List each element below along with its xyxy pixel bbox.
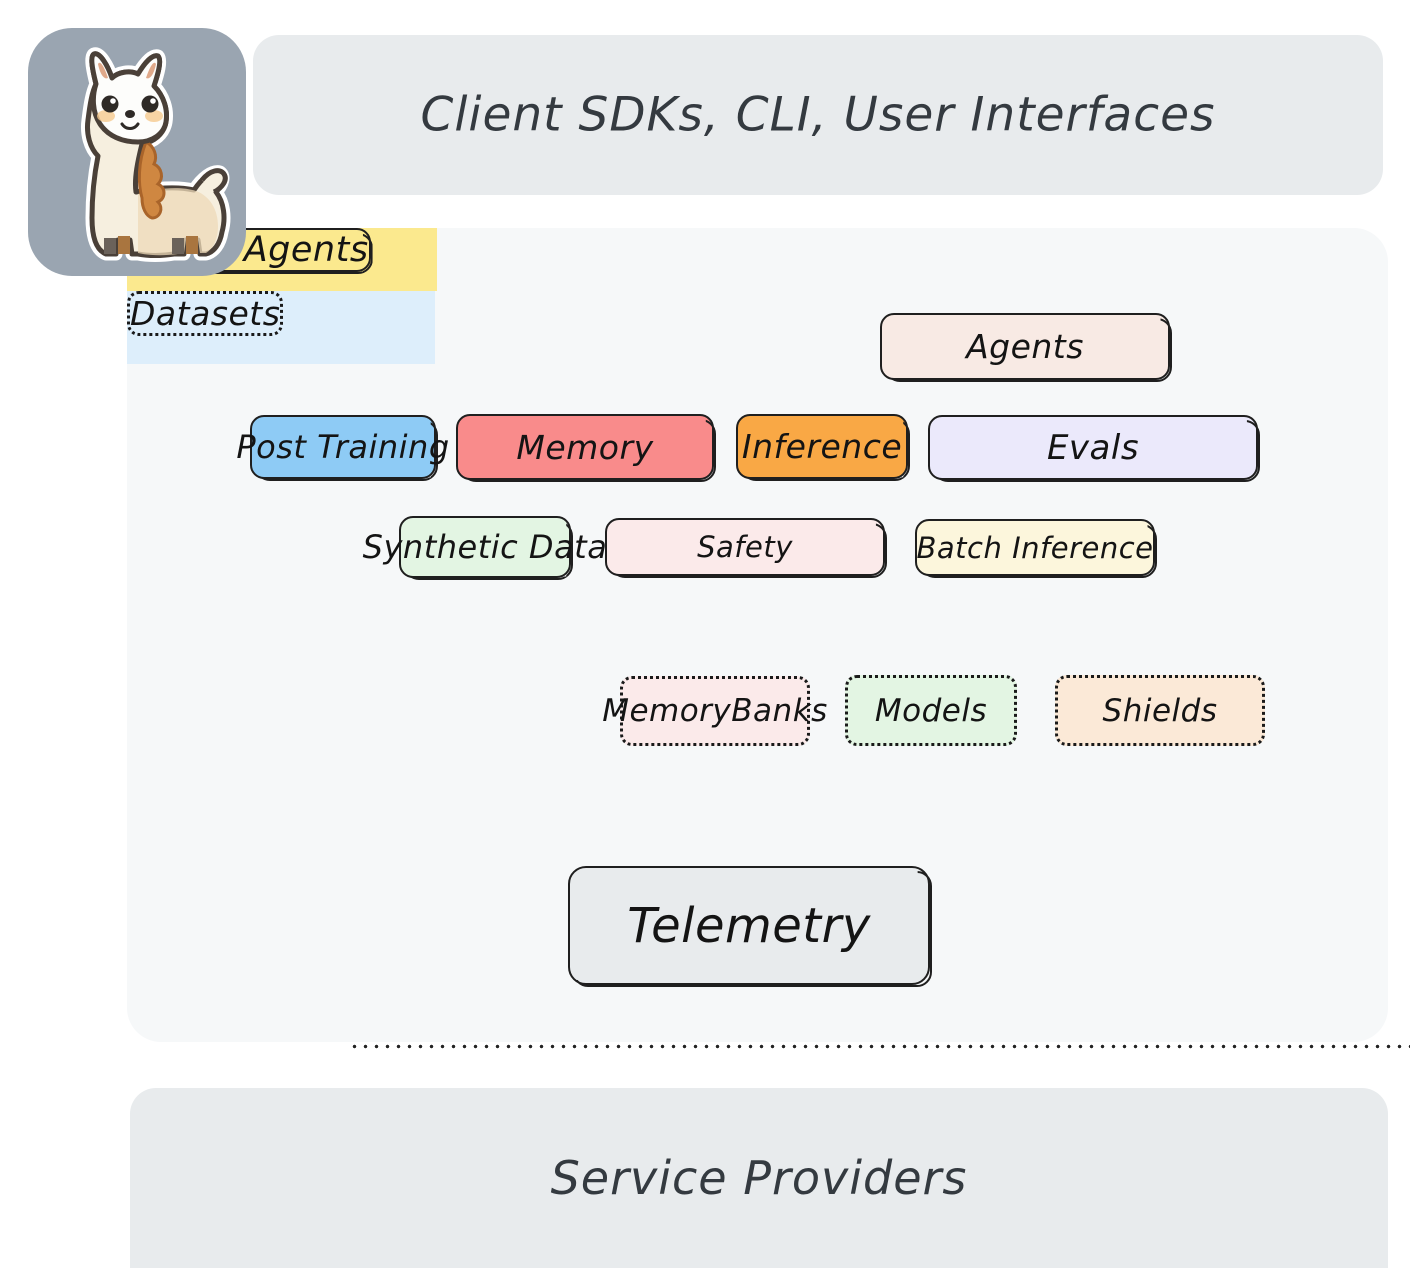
service-providers-title: Service Providers bbox=[130, 1151, 1388, 1205]
diagram-canvas: Client SDKs, CLI, User Interfaces bbox=[0, 0, 1410, 1268]
api-box-batch-inference[interactable]: Batch Inference bbox=[915, 519, 1155, 576]
resource-box-group: MemoryBanks Models Shields Datasets bbox=[127, 291, 435, 364]
llama-stack-panel: Agents Post Training Memory Inference Ev… bbox=[127, 228, 1388, 1042]
resource-box-models[interactable]: Models bbox=[845, 675, 1017, 746]
llama-logo-icon bbox=[34, 38, 240, 270]
api-box-synthetic-data[interactable]: Synthetic Data bbox=[399, 516, 571, 578]
api-box-inference[interactable]: Inference bbox=[736, 414, 908, 479]
section-divider bbox=[349, 1044, 1410, 1049]
api-box-memory[interactable]: Memory bbox=[456, 414, 714, 480]
api-box-agents[interactable]: Agents bbox=[880, 313, 1170, 380]
llama-logo-tile bbox=[28, 28, 246, 276]
client-layer-bar: Client SDKs, CLI, User Interfaces bbox=[253, 35, 1383, 195]
api-box-evals[interactable]: Evals bbox=[928, 415, 1258, 480]
api-box-safety[interactable]: Safety bbox=[605, 518, 885, 576]
resource-box-memorybanks[interactable]: MemoryBanks bbox=[620, 676, 810, 746]
client-layer-title: Client SDKs, CLI, User Interfaces bbox=[253, 88, 1383, 143]
resource-box-shields[interactable]: Shields bbox=[1055, 675, 1265, 746]
service-providers-bar: Service Providers bbox=[130, 1088, 1388, 1268]
resource-box-datasets[interactable]: Datasets bbox=[127, 291, 283, 336]
telemetry-box[interactable]: Telemetry bbox=[568, 866, 930, 985]
api-box-post-training[interactable]: Post Training bbox=[250, 415, 436, 479]
